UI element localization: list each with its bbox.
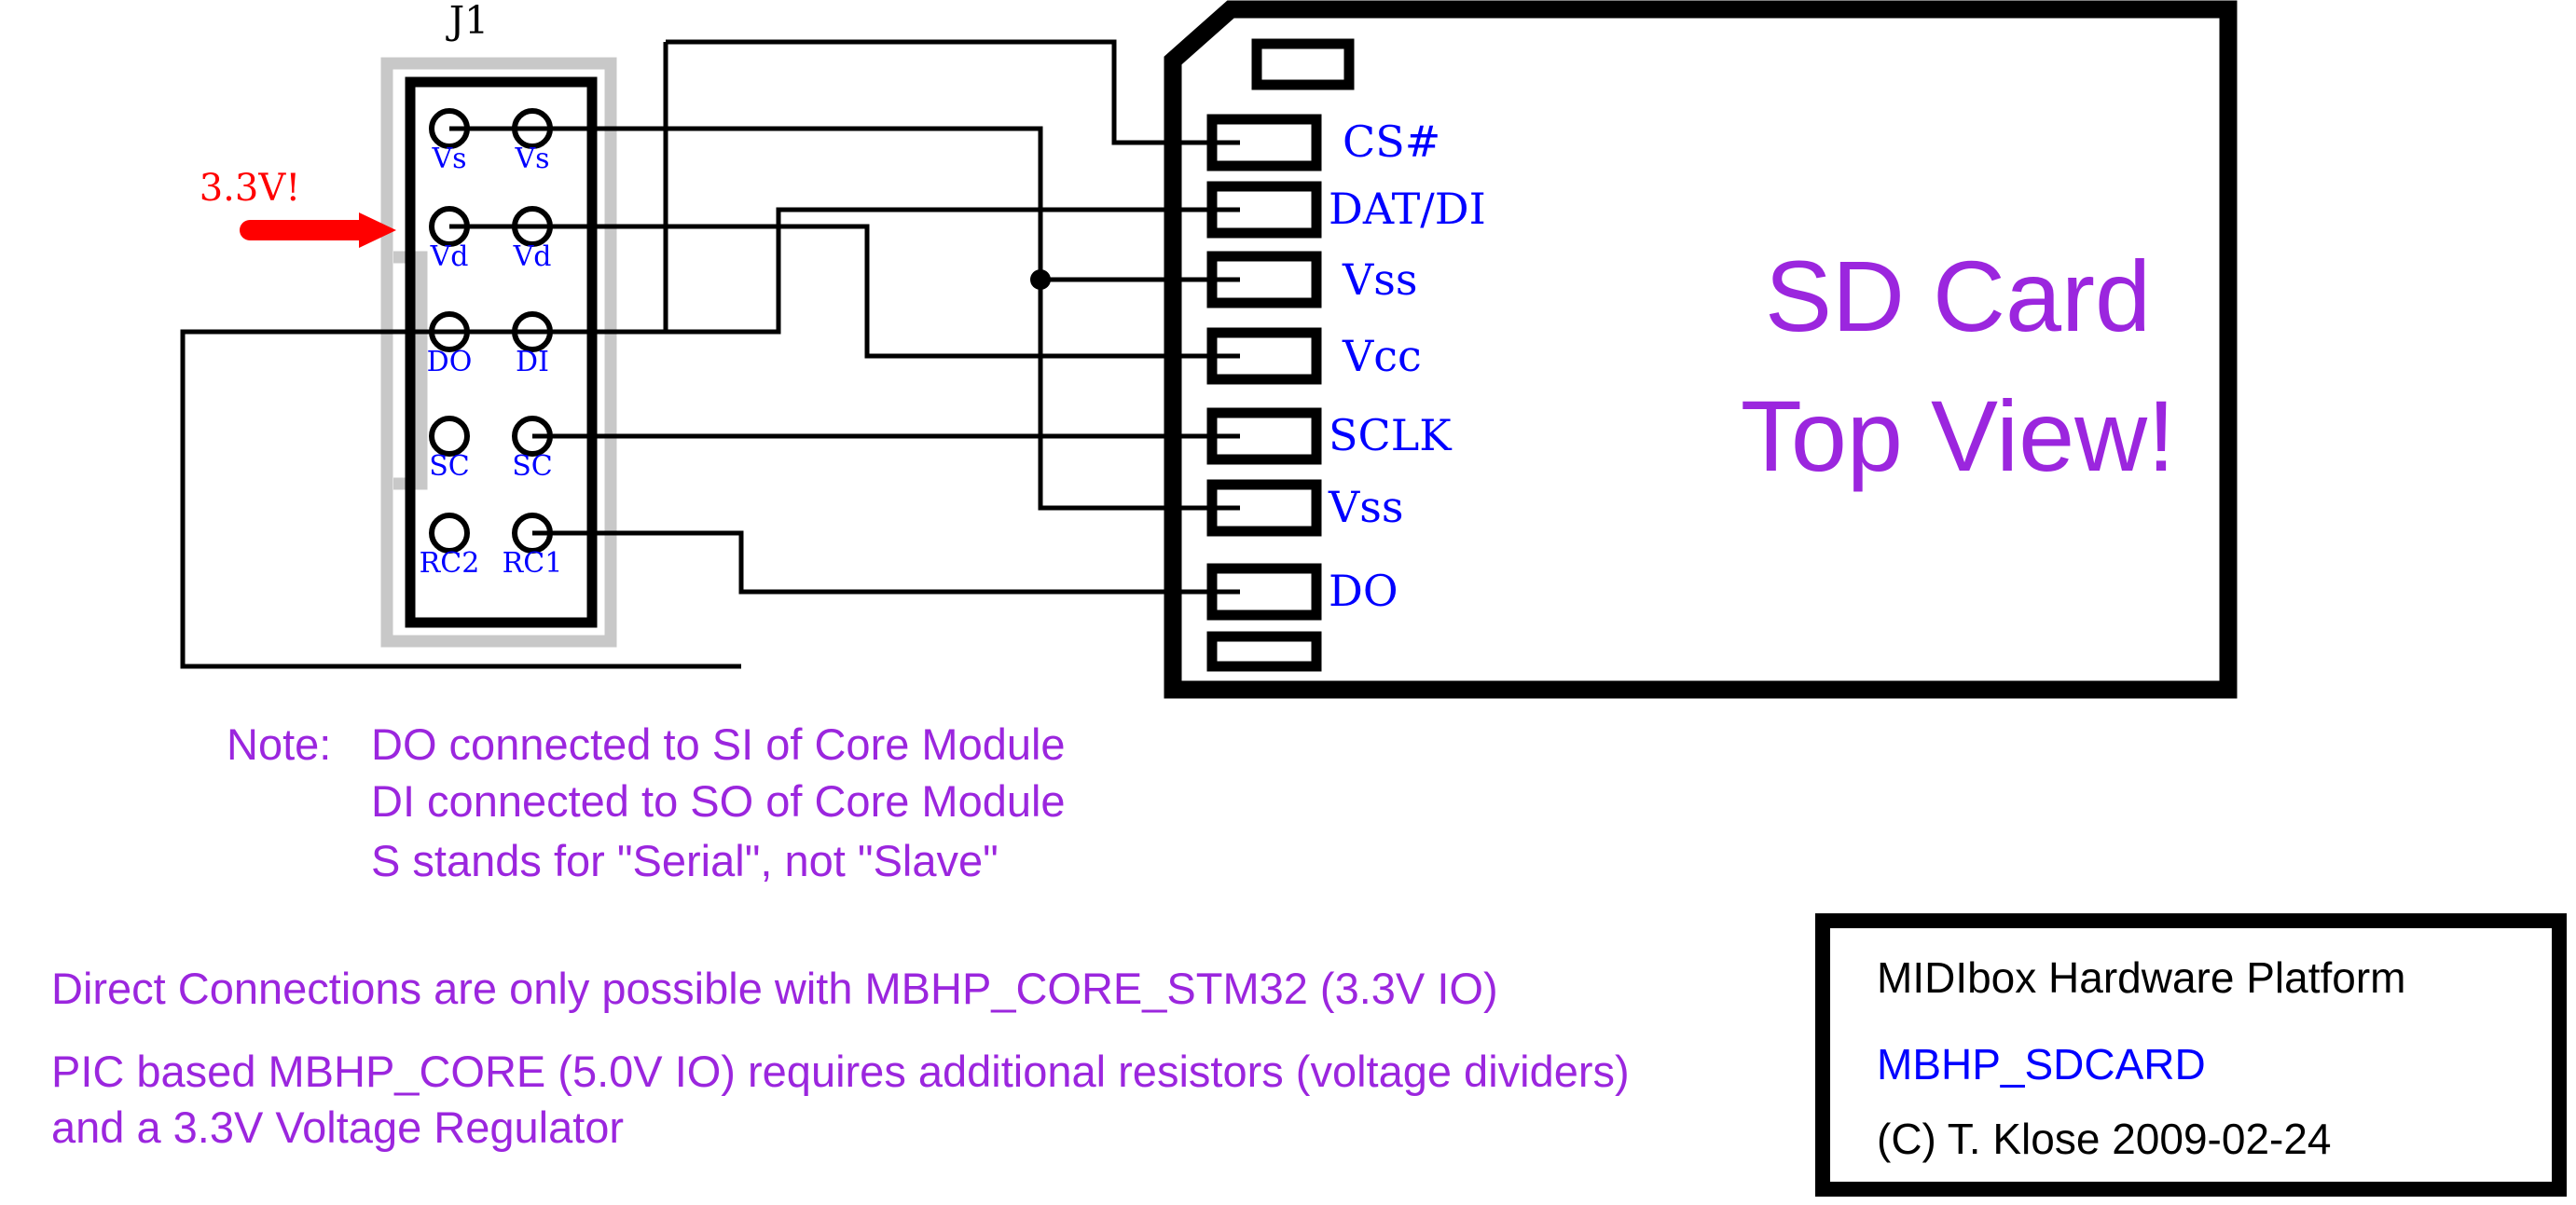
sd-pad-9 <box>1212 637 1316 666</box>
note-line-1: DO connected to SI of Core Module <box>371 719 1066 769</box>
schematic-sheet: J1 Vs Vd DO SC RC2 Vs Vd DI SC RC1 3.3V! <box>0 0 2576 1205</box>
sd-pad-1 <box>1257 44 1349 85</box>
connector-pin-label-2R: Vd <box>513 240 552 273</box>
connector-designator: J1 <box>446 0 489 43</box>
title-block-line-3: (C) T. Klose 2009-02-24 <box>1877 1115 2332 1163</box>
remark-line-1: Direct Connections are only possible wit… <box>51 964 1498 1013</box>
connector-pin-label-1L: Vs <box>431 143 466 175</box>
connector-pin-label-1R: Vs <box>514 143 549 175</box>
connector-pin-label-3L: DO <box>427 346 473 378</box>
note-line-2: DI connected to SO of Core Module <box>371 776 1066 826</box>
sd-pin-label-4: Vss <box>1342 254 1417 305</box>
note-line-3: S stands for "Serial", not "Slave" <box>371 836 999 885</box>
title-block-line-1: MIDIbox Hardware Platform <box>1877 953 2406 1002</box>
sd-pin-label-2: CS# <box>1343 116 1440 167</box>
connector-pin-label-3R: DI <box>516 346 549 378</box>
connector-pin-label-5L: RC2 <box>420 547 480 580</box>
sd-pin-label-6: SCLK <box>1329 410 1453 460</box>
note-label: Note: <box>227 719 331 769</box>
sd-pin-label-5: Vcc <box>1342 331 1422 381</box>
remark-line-3: and a 3.3V Voltage Regulator <box>51 1102 624 1152</box>
remark-line-2: PIC based MBHP_CORE (5.0V IO) requires a… <box>51 1047 1630 1096</box>
sd-card-heading-line1: SD Card <box>1765 240 2151 352</box>
connector-pin-label-5R: RC1 <box>503 547 563 580</box>
connector-pin-label-4L: SC <box>429 450 470 483</box>
sd-pin-label-7: Vss <box>1328 482 1403 532</box>
title-block: MIDIbox Hardware Platform MBHP_SDCARD (C… <box>1823 921 2559 1189</box>
schematic-canvas: J1 Vs Vd DO SC RC2 Vs Vd DI SC RC1 3.3V! <box>0 0 2576 1205</box>
title-block-line-2: MBHP_SDCARD <box>1877 1040 2206 1089</box>
connector-pin-label-2L: Vd <box>430 240 469 273</box>
connector-pin-label-4R: SC <box>512 450 553 483</box>
supply-voltage-label: 3.3V! <box>200 167 301 210</box>
sd-pin-label-3: DAT/DI <box>1329 184 1486 234</box>
sd-pin-label-8: DO <box>1329 566 1398 616</box>
sd-card-heading-line2: Top View! <box>1741 379 2175 492</box>
